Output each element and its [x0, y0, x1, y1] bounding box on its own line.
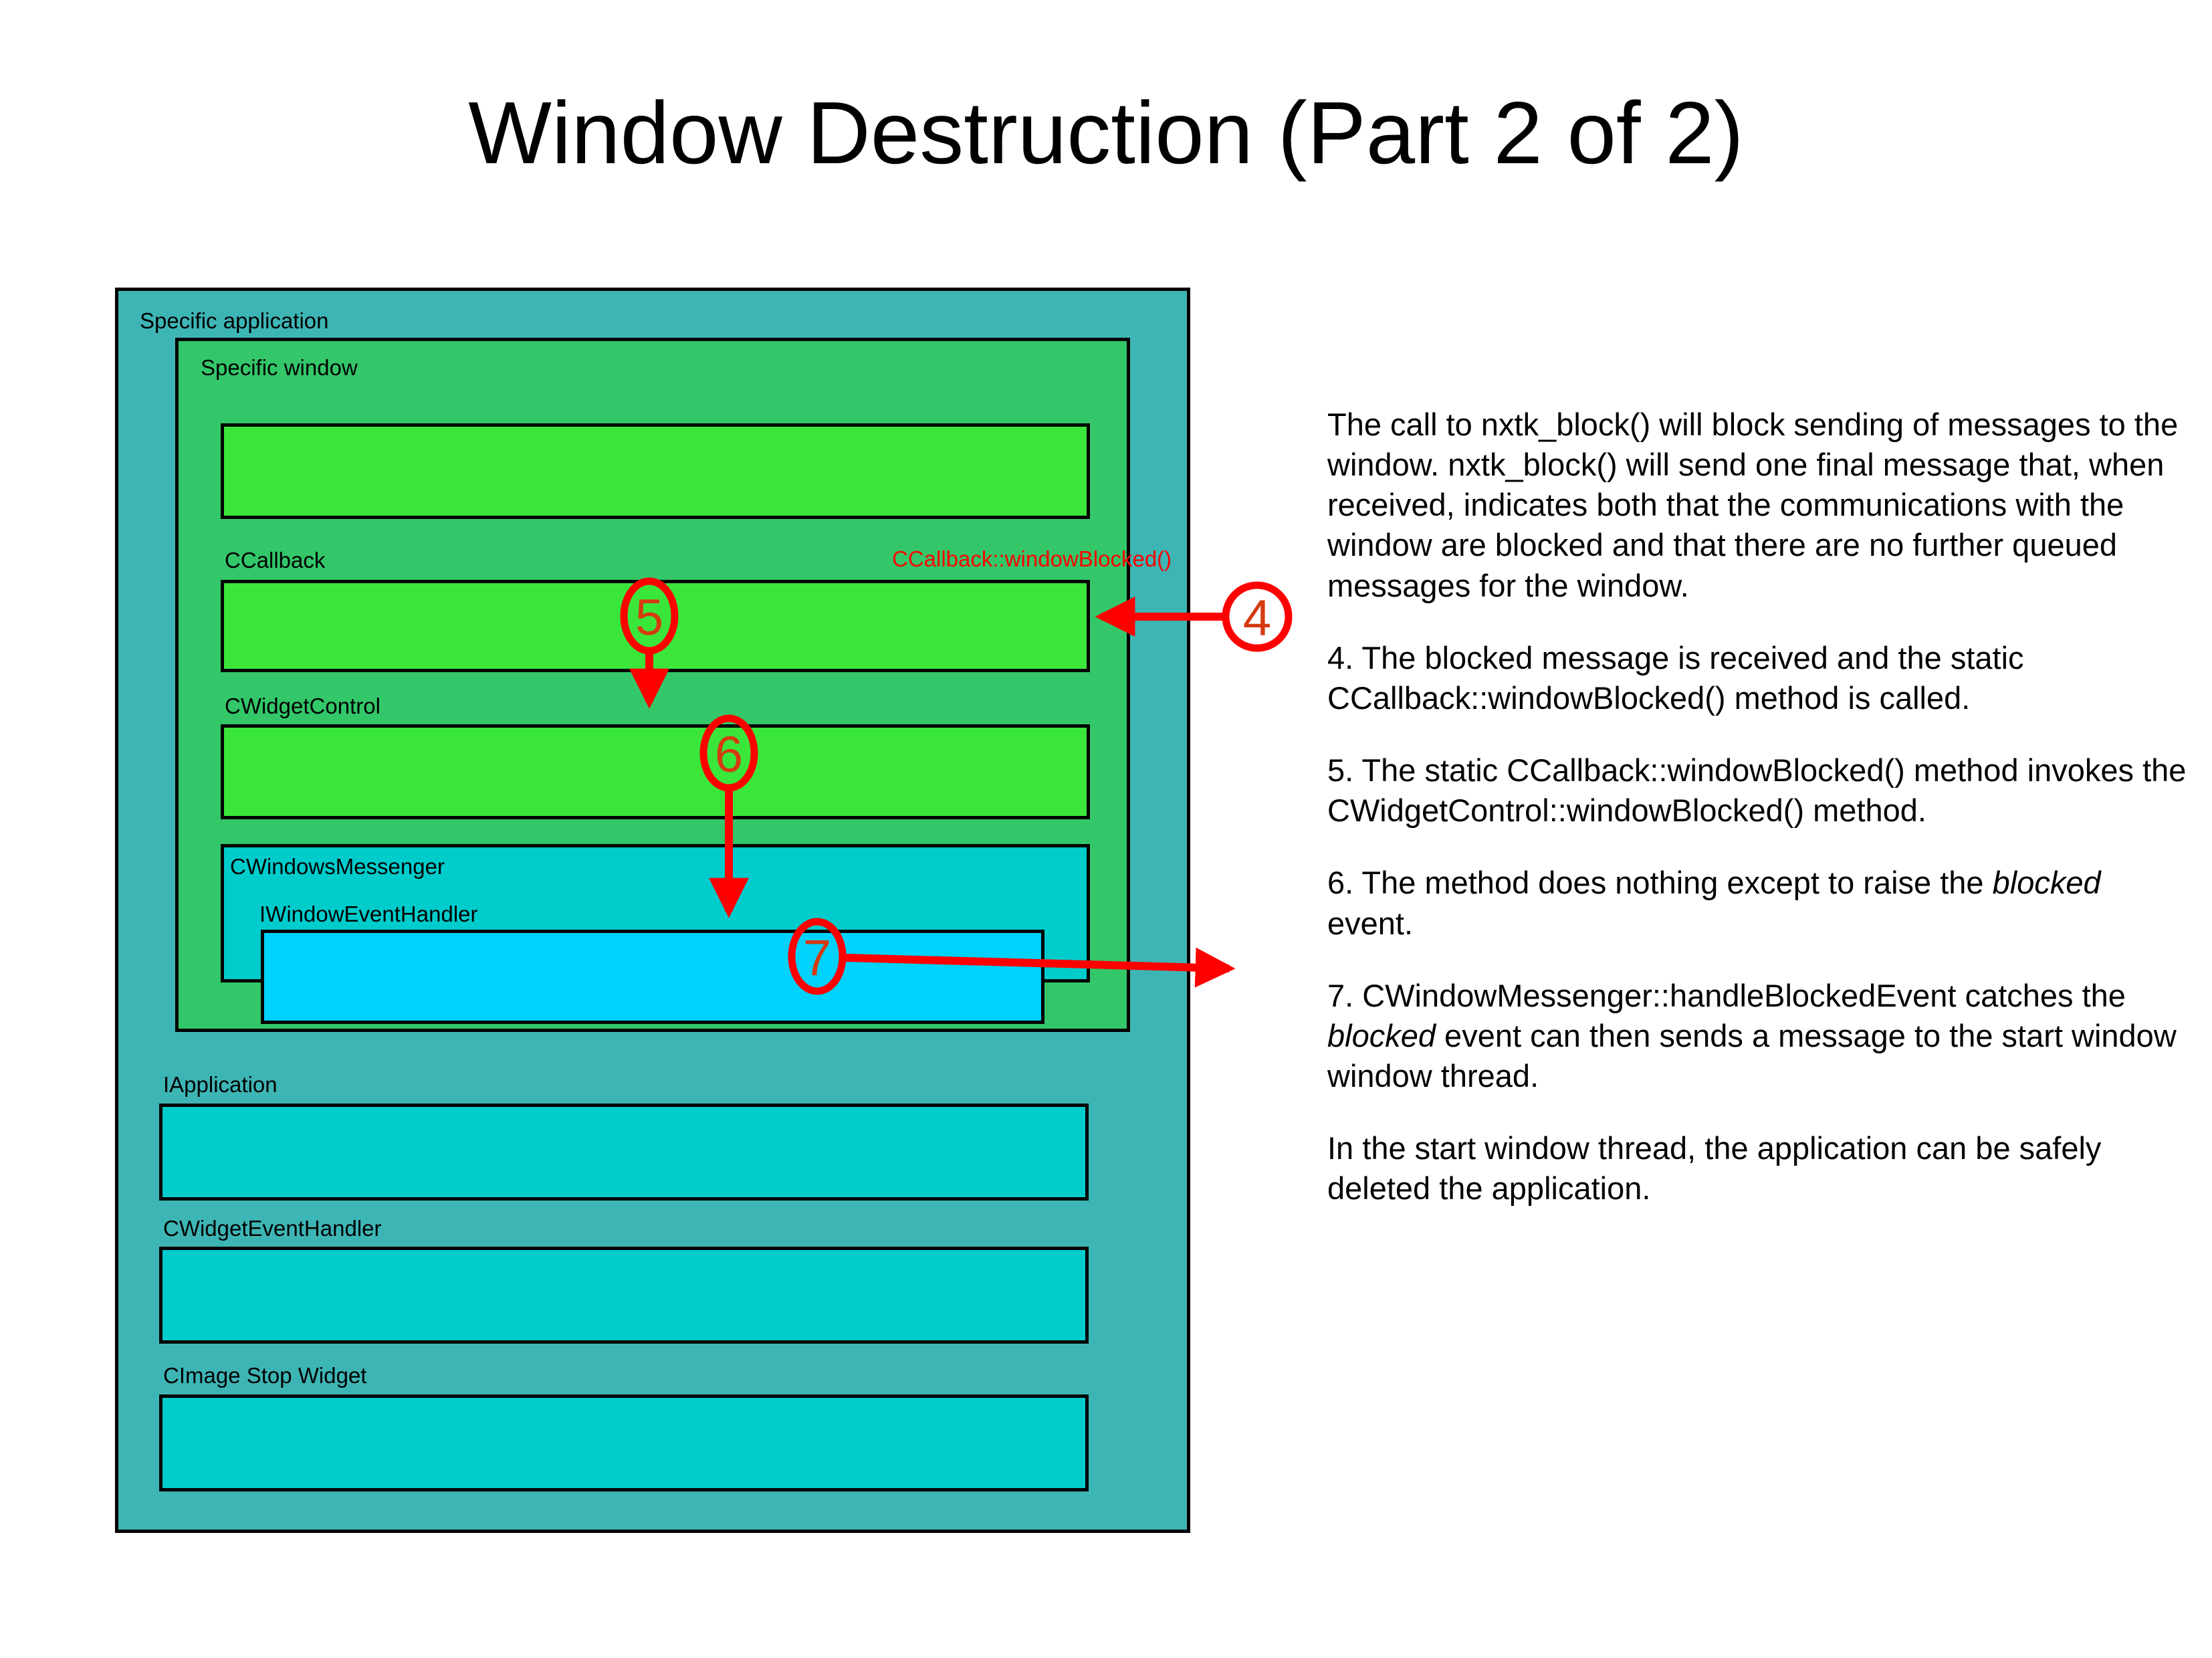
ccallback-method-annotation: CCallback::windowBlocked() [892, 548, 1172, 570]
cwidgeteventhandler-label: CWidgetEventHandler [163, 1217, 382, 1239]
note-paragraph-intro: The call to nxtk_block() will block send… [1327, 405, 2190, 606]
note-paragraph-5: 5. The static CCallback::windowBlocked()… [1327, 750, 2190, 831]
specific-window-label: Specific window [201, 356, 358, 379]
note-paragraph-7: 7. CWindowMessenger::handleBlockedEvent … [1327, 976, 2190, 1096]
iwindoweventhandler-box [261, 930, 1044, 1024]
cwidgetcontrol-label: CWidgetControl [225, 695, 380, 717]
step-marker-4-number: 4 [1243, 590, 1271, 647]
note-6-italic-blocked: blocked [1993, 865, 2101, 900]
note-paragraph-closing: In the start window thread, the applicat… [1327, 1128, 2190, 1209]
window-top-region-box [221, 423, 1090, 519]
cwidgeteventhandler-box [159, 1247, 1089, 1344]
explanation-notes: The call to nxtk_block() will block send… [1327, 405, 2190, 1209]
iapplication-label: IApplication [163, 1073, 278, 1096]
ccallback-box [221, 580, 1090, 672]
note-7-prefix: 7. CWindowMessenger::handleBlockedEvent … [1327, 978, 2126, 1013]
step-marker-4-circle [1226, 585, 1289, 648]
note-7-italic-blocked: blocked [1327, 1018, 1436, 1053]
note-6-suffix: event. [1327, 906, 1413, 941]
iwindoweventhandler-label: IWindowEventHandler [259, 903, 478, 925]
ccallback-label: CCallback [225, 549, 325, 571]
cwidgetcontrol-box [221, 724, 1090, 819]
specific-application-label: Specific application [140, 310, 329, 332]
note-6-prefix: 6. The method does nothing except to rai… [1327, 865, 1993, 900]
note-7-suffix: event can then sends a message to the st… [1327, 1018, 2177, 1094]
note-paragraph-4: 4. The blocked message is received and t… [1327, 638, 2190, 718]
cimage-stop-widget-label: CImage Stop Widget [163, 1364, 366, 1386]
architecture-diagram: Specific application Specific window CCa… [115, 288, 1190, 1533]
iapplication-box [159, 1104, 1089, 1201]
cwindowsmessenger-label: CWindowsMessenger [230, 855, 445, 877]
page-title: Window Destruction (Part 2 of 2) [0, 87, 2212, 180]
note-paragraph-6: 6. The method does nothing except to rai… [1327, 863, 2190, 943]
cimage-stop-widget-box [159, 1394, 1089, 1491]
